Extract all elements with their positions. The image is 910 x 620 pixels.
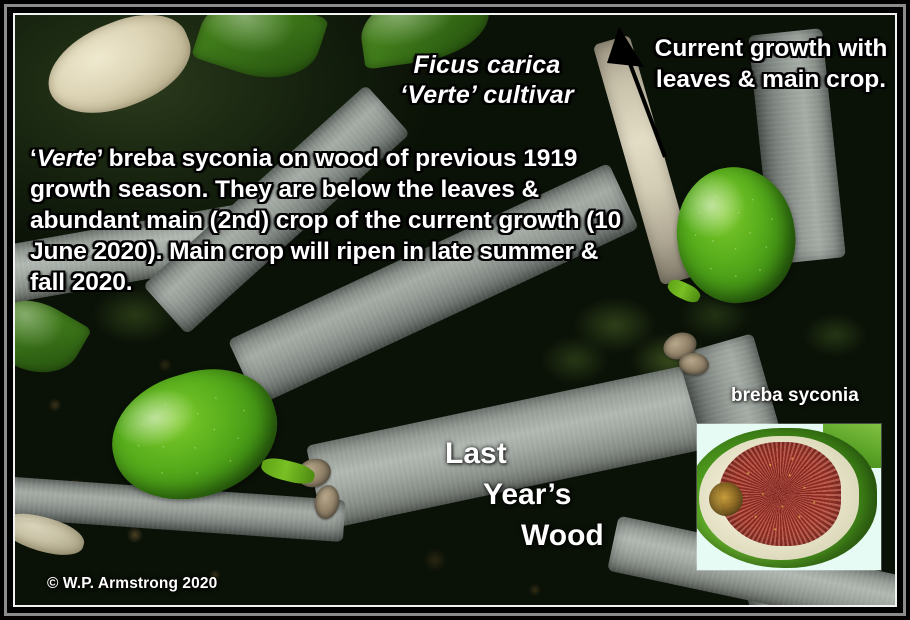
breba-syconia-label: breba syconia xyxy=(731,385,859,407)
photograph: Ficus carica ‘Verte’ cultivar Current gr… xyxy=(15,15,895,605)
last-years-wood-line2: Year’s xyxy=(445,474,665,515)
caption-cultivar-name: Verte xyxy=(37,145,97,172)
species-title-line2: ‘Verte’ cultivar xyxy=(372,81,602,111)
species-title-line1: Ficus carica xyxy=(372,51,602,81)
species-title: Ficus carica ‘Verte’ cultivar xyxy=(372,51,602,110)
inset-cut-fig-photo xyxy=(697,424,881,570)
last-years-wood-line1: Last xyxy=(445,433,665,474)
figure-frame: Ficus carica ‘Verte’ cultivar Current gr… xyxy=(0,0,910,620)
copyright-notice: © W.P. Armstrong 2020 xyxy=(47,575,217,593)
caption-open-quote: ‘ xyxy=(30,145,37,172)
figure-caption: ‘Verte’ breba syconia on wood of previou… xyxy=(30,143,630,298)
caption-body: ’ breba syconia on wood of previous 1919… xyxy=(30,145,621,296)
cut-fig-ostiole xyxy=(709,482,743,516)
last-years-wood-label: Last Year’s Wood xyxy=(445,433,665,556)
last-years-wood-line3: Wood xyxy=(445,515,665,556)
current-growth-note: Current growth with leaves & main crop. xyxy=(651,33,891,95)
